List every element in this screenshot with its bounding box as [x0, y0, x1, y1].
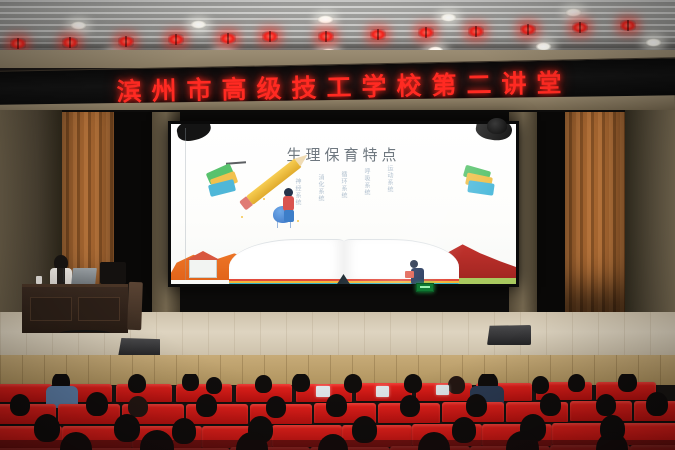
stage-chair: [127, 282, 143, 330]
audience-head: [266, 396, 286, 418]
audience-head: [352, 416, 377, 443]
audience-head: [618, 374, 637, 392]
hanging-speaker: [487, 118, 507, 134]
ceiling-accent-light: [118, 36, 134, 47]
ceiling-accent-light: [620, 20, 636, 31]
audience-tablet: [376, 386, 389, 397]
audience-head: [128, 374, 146, 393]
ceiling-accent-light: [418, 27, 434, 38]
audience-head: [114, 414, 140, 442]
audience-head: [292, 374, 310, 392]
desk-panel: [78, 297, 120, 321]
ceiling-accent-light: [10, 38, 26, 49]
exit-sign: [416, 283, 434, 292]
audience-head: [206, 377, 222, 394]
audience-head: [568, 374, 585, 392]
audience-tablet: [316, 386, 330, 397]
audience-head: [646, 392, 668, 416]
ceiling-downlight: [317, 15, 334, 24]
ceiling-downlight: [70, 21, 87, 30]
audience-head: [255, 375, 272, 393]
ceiling-accent-light: [520, 24, 536, 35]
desk-panel: [30, 297, 72, 321]
screen-glare: [171, 124, 516, 284]
ceiling-accent-light: [370, 29, 386, 40]
presenter-monitor: [100, 262, 126, 284]
audience-head: [326, 394, 347, 417]
stage-curtain-right: [565, 112, 625, 312]
audience-head: [466, 394, 487, 417]
auditorium-lecture-photo: 滨州市高级技工学校第二讲堂 生理保育特点 神经系统 消化系统 循环系统 呼吸系统…: [0, 0, 675, 450]
presentation-slide: 生理保育特点 神经系统 消化系统 循环系统 呼吸系统 运动系统: [171, 124, 516, 284]
stage-wall-right: [625, 110, 675, 322]
audience-head: [34, 414, 60, 442]
drinking-cup: [36, 276, 42, 284]
ceiling-downlight: [645, 38, 662, 47]
audience-head: [540, 393, 561, 416]
microphone-stand: [63, 268, 64, 282]
ceiling-accent-light: [168, 34, 184, 45]
audience-tablet: [436, 385, 449, 395]
presenter-person: [48, 255, 74, 287]
audience-area: [0, 374, 675, 450]
audience-head: [196, 394, 217, 417]
audience-head: [448, 376, 465, 394]
audience-head: [86, 392, 108, 416]
ceiling-downlight: [565, 8, 582, 17]
audience-head: [400, 395, 420, 417]
stage-monitor-speaker: [487, 325, 531, 345]
audience-head: [182, 374, 199, 391]
ceiling-accent-light: [62, 37, 78, 48]
audience-head: [404, 374, 422, 393]
audience-head: [596, 394, 616, 416]
audience-floor-shadow: [0, 440, 675, 450]
ceiling-downlight: [190, 20, 207, 29]
audience-head: [10, 394, 30, 416]
audience-head: [344, 374, 362, 393]
ceiling-accent-light: [468, 26, 484, 37]
ceiling-accent-light: [572, 22, 588, 33]
ceiling-accent-light: [262, 31, 278, 42]
projection-screen: 生理保育特点 神经系统 消化系统 循环系统 呼吸系统 运动系统: [168, 121, 519, 287]
ceiling-accent-light: [318, 31, 334, 42]
floor-cable: [60, 330, 110, 336]
audience-head: [532, 376, 549, 394]
presenter-desk: [22, 284, 128, 333]
ceiling-downlight: [440, 13, 457, 22]
ceiling-accent-light: [220, 33, 236, 44]
presenter-laptop: [71, 268, 97, 285]
